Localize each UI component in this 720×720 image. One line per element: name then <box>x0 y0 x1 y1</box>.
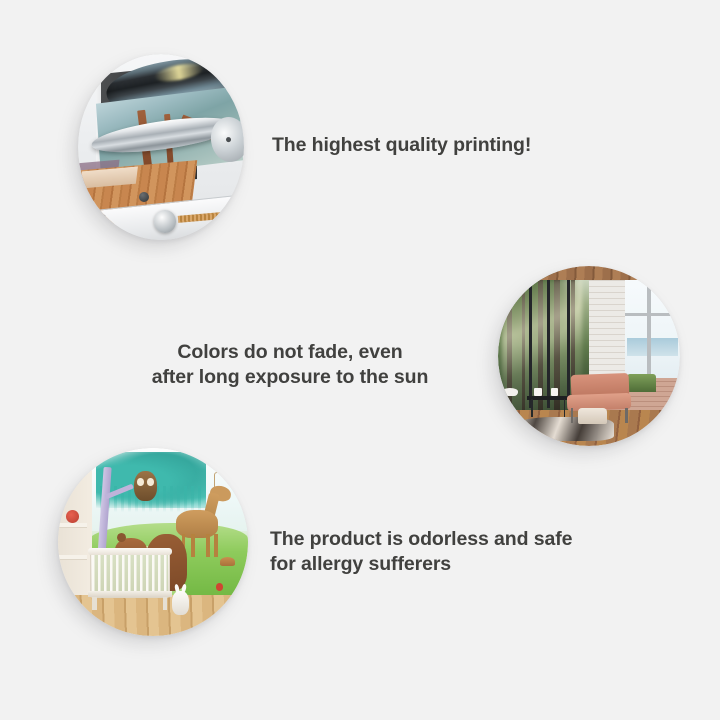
wooden-ceiling <box>513 266 677 280</box>
window-mullion <box>547 271 550 408</box>
pouf-ottoman <box>578 408 607 424</box>
mural-deer-leg <box>191 534 195 557</box>
mural-owl <box>134 471 157 501</box>
printing-press-photo <box>78 54 244 240</box>
caption-colors-do-not-fade: Colors do not fade, even after long expo… <box>120 340 460 390</box>
window-mullion <box>529 271 532 408</box>
caption-printing: The highest quality printing! <box>272 133 602 158</box>
crib-leg <box>92 597 97 610</box>
crib-leg <box>163 597 168 610</box>
window-plants <box>627 374 656 392</box>
coffee-table-top <box>527 396 567 401</box>
table-cup <box>534 388 541 395</box>
window-frame-horizontal <box>625 313 680 316</box>
caption-odorless-and-safe: The product is odorless and safe for all… <box>270 527 610 577</box>
promo-canvas: The highest quality printing! <box>0 0 720 720</box>
coffee-table-leg <box>564 399 566 417</box>
mural-deer-leg <box>206 534 210 557</box>
crib-top-rail <box>88 548 172 556</box>
mural-berry <box>216 583 224 591</box>
window-mullion <box>567 271 570 408</box>
shelf-toy <box>66 510 79 523</box>
sofa-leg <box>625 408 627 422</box>
table-cup <box>551 388 558 395</box>
crib-bottom-rail <box>88 591 172 598</box>
adjustment-knob <box>154 210 176 232</box>
wall-shelf <box>58 523 87 528</box>
wooden-floor <box>58 595 248 636</box>
living-room-forest-mural-photo <box>498 266 680 446</box>
wall-shelf <box>58 555 87 560</box>
window-sky-view <box>627 338 678 356</box>
floor-lamp-shade <box>502 388 518 395</box>
bunny-figurine <box>172 591 189 615</box>
nursery-animal-mural-photo <box>58 448 248 636</box>
sofa-leg <box>571 408 573 422</box>
crib-bars <box>92 555 168 593</box>
coffee-table-leg <box>531 399 533 417</box>
mural-mushroom <box>220 557 235 566</box>
mural-deer-leg <box>214 534 218 557</box>
